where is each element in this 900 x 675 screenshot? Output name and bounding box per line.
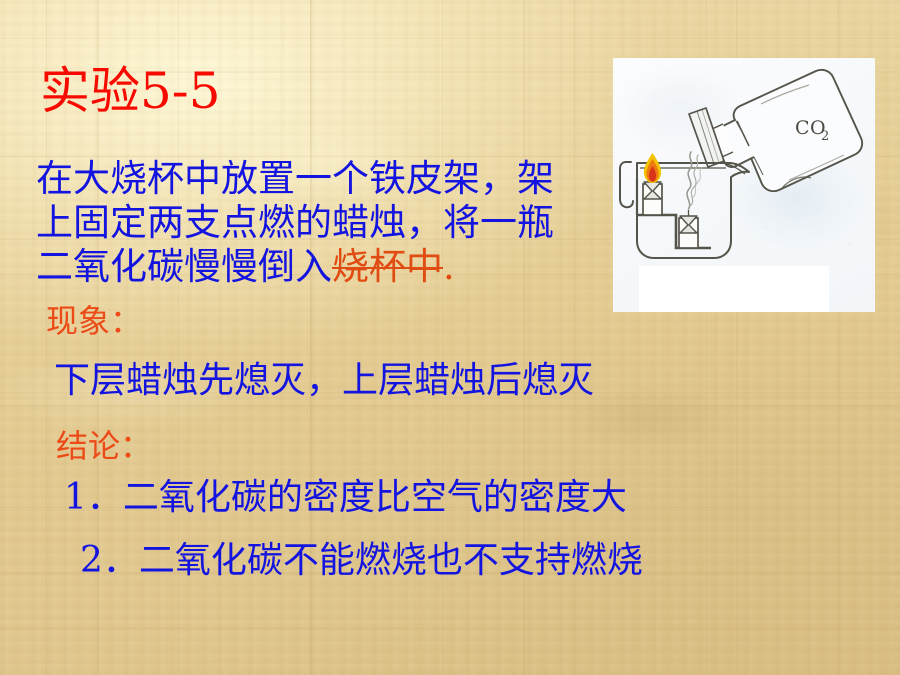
procedure-line-3: 二氧化碳慢慢倒入烧杯中. [36,245,624,289]
conclusion-heading: 结论： [56,430,152,462]
procedure-line-3-text: 二氧化碳慢慢倒入 [36,245,332,288]
beaker-left-hook [620,162,633,207]
conclusion-item-1: 1．二氧化碳的密度比空气的密度大 [64,480,627,516]
lower-candle-extinguished [679,152,701,248]
smoke-trail-wisp [692,168,701,198]
phenomenon-heading: 现象： [46,305,142,337]
procedure-struck-tail: . [443,245,455,288]
procedure-line-2: 上固定两支点燃的蜡烛，将一瓶 [36,201,624,245]
slide-content: 实验5-5 在大烧杯中放置一个铁皮架，架 上固定两支点燃的蜡烛，将一瓶 二氧化碳… [0,0,900,675]
smoke-trail-main [687,152,692,209]
experiment-figure: CO 2 [613,58,875,312]
iron-step-rack [637,215,711,248]
co2-pour-diagram-svg: CO 2 [613,58,875,312]
conclusion-item-2: 2．二氧化碳不能燃烧也不支持燃烧 [80,543,643,579]
gas-bottle-co2-subscript: 2 [821,129,829,144]
slide-canvas: 实验5-5 在大烧杯中放置一个铁皮架，架 上固定两支点燃的蜡烛，将一瓶 二氧化碳… [0,0,900,675]
experiment-procedure-text: 在大烧杯中放置一个铁皮架，架 上固定两支点燃的蜡烛，将一瓶 二氧化碳慢慢倒入烧杯… [36,157,624,289]
phenomenon-text: 下层蜡烛先熄灭，上层蜡烛后熄灭 [54,363,594,399]
procedure-struck-text: 烧杯中 [332,245,443,288]
procedure-line-1: 在大烧杯中放置一个铁皮架，架 [36,157,624,201]
slide-title: 实验5-5 [40,66,221,116]
